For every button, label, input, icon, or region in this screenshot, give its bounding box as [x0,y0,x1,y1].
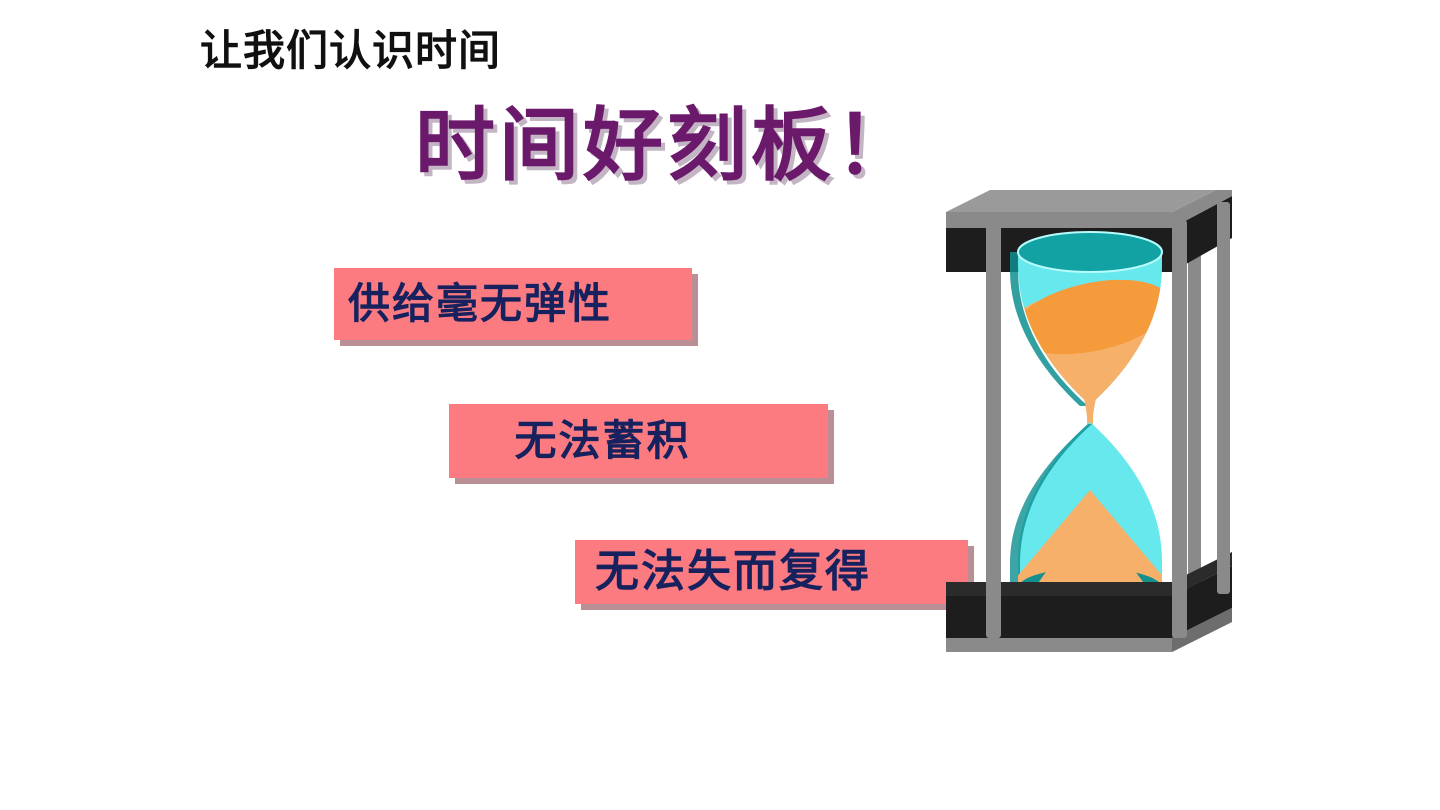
callout-label: 无法失而复得 [595,550,871,594]
frame-post-front-right [1172,220,1187,638]
callout-label: 无法蓄积 [514,420,690,462]
frame-post-back-right [1188,238,1201,610]
slide-kicker: 让我们认识时间 [200,30,501,72]
callout-box-cannot-regain[interactable]: 无法失而复得 [575,540,968,604]
callout-box-cannot-store[interactable]: 无法蓄积 [449,404,828,478]
slide-canvas: 让我们认识时间 时间好刻板！ 供给毫无弹性 无法蓄积 无法失而复得 [0,0,1440,810]
callout-label: 供给毫无弹性 [348,283,612,325]
page-title: 时间好刻板！ [415,104,919,188]
frame-post-rear-right [1217,202,1230,594]
hourglass-graphic [940,190,1250,670]
frame-post-front-left [986,220,1001,638]
hourglass-icon [940,190,1250,670]
callout-box-supply-inelastic[interactable]: 供给毫无弹性 [334,268,692,340]
